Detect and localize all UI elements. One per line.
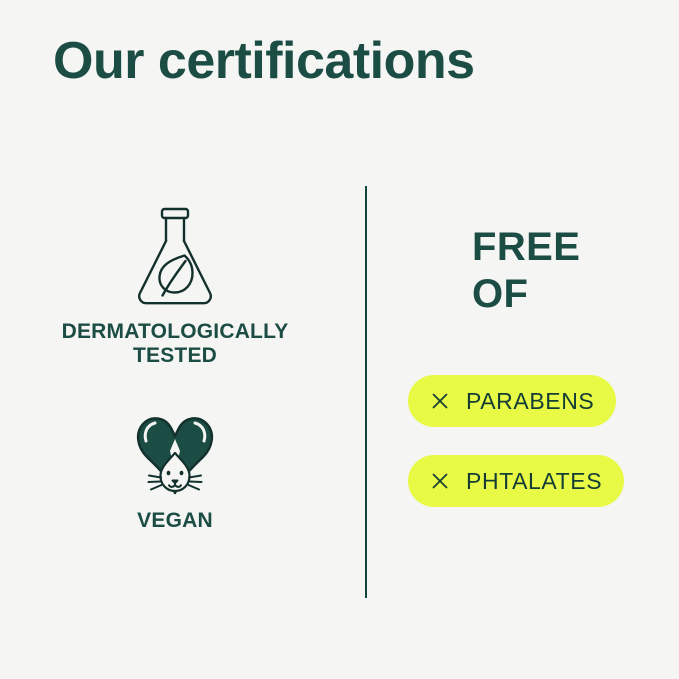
- free-of-pill-label: PHTALATES: [466, 468, 602, 495]
- certifications-columns: DERMATOLOGICALLY TESTED: [0, 170, 679, 620]
- flask-leaf-icon: [129, 200, 221, 312]
- free-of-pill-phtalates[interactable]: PHTALATES: [408, 455, 624, 507]
- x-icon: [430, 391, 450, 411]
- free-of-pill-parabens[interactable]: PARABENS: [408, 375, 616, 427]
- certification-label: VEGAN: [0, 509, 350, 533]
- certification-item-dermatologically-tested: DERMATOLOGICALLY TESTED: [0, 200, 350, 367]
- free-of-title-line1: FREE: [472, 224, 580, 271]
- bunny-heart-icon: [125, 395, 225, 503]
- certifications-left-column: DERMATOLOGICALLY TESTED: [0, 170, 350, 620]
- free-of-title-line2: OF: [472, 271, 580, 318]
- certification-item-vegan: VEGAN: [0, 395, 350, 533]
- column-divider: [365, 186, 367, 598]
- x-icon: [430, 471, 450, 491]
- free-of-pill-label: PARABENS: [466, 388, 594, 415]
- certifications-panel: Our certifications: [0, 0, 679, 679]
- certifications-right-column: FREE OF PARABENS: [380, 170, 679, 620]
- page-title: Our certifications: [53, 33, 475, 90]
- free-of-list: PARABENS PHTALATES: [408, 375, 658, 535]
- free-of-title: FREE OF: [472, 224, 580, 318]
- certification-label: DERMATOLOGICALLY TESTED: [0, 320, 350, 367]
